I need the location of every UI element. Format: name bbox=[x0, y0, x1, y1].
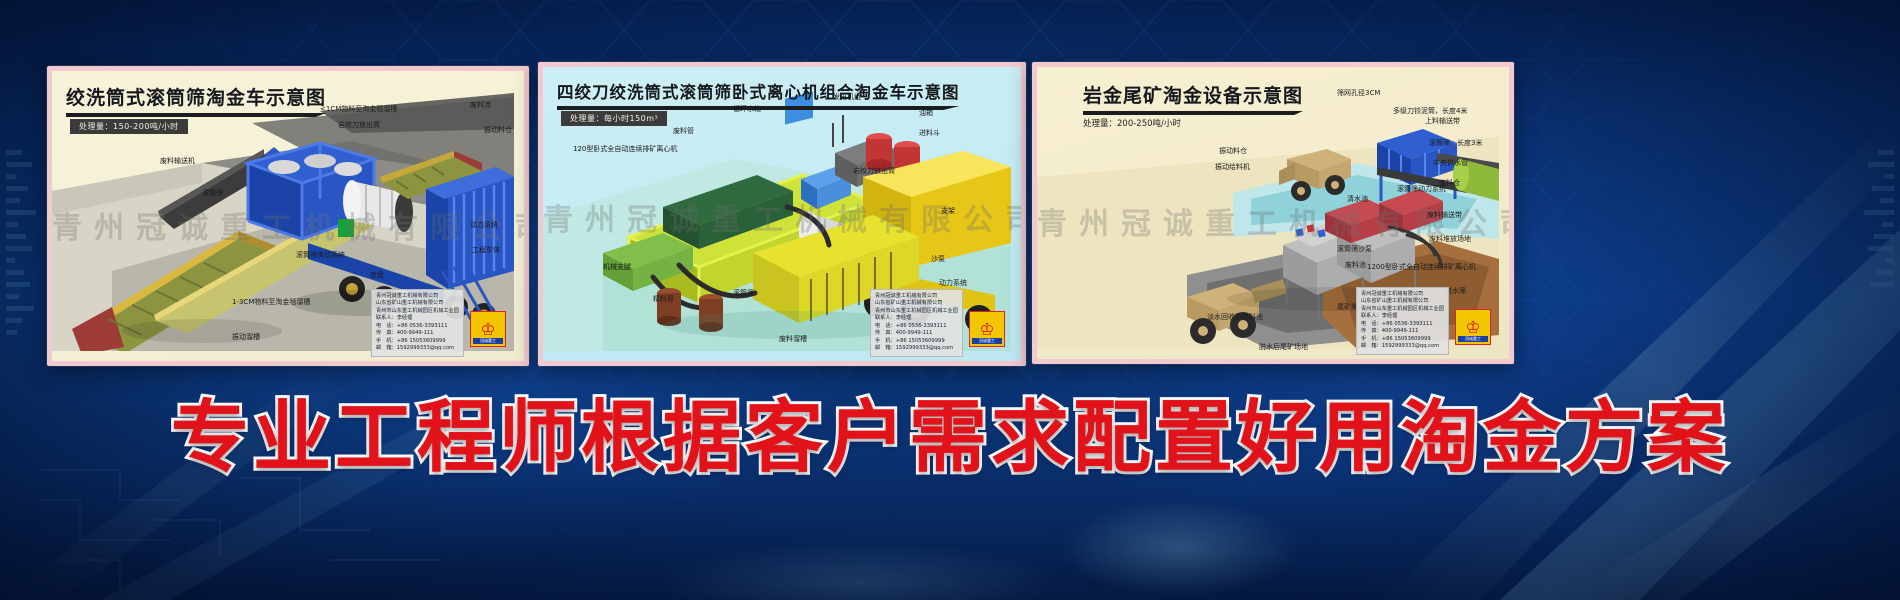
callout-label: 滚筒筛 bbox=[202, 189, 223, 198]
title-underline-1 bbox=[66, 113, 326, 117]
callout-label: 淡水回收及排料池 bbox=[1207, 313, 1263, 322]
callout-label: 脱水后尾矿场地 bbox=[1259, 343, 1308, 352]
panel-3-title: 岩金尾矿淘金设备示意图 bbox=[1083, 81, 1303, 115]
logo-base: 冠诚重工 bbox=[473, 338, 503, 344]
callout-label: 油箱 bbox=[919, 109, 933, 118]
callout-label: 滚筒筛、长度3米 bbox=[1429, 139, 1482, 148]
diagram-panel-1[interactable]: 青州冠诚重工机械有限公司 绞洗筒式滚筒筛淘金车示意图 处理量：150-200吨/… bbox=[47, 66, 529, 366]
contact-person: 联系人：李经理 bbox=[1361, 313, 1444, 321]
contact-email: 邮 箱：1592999333@qq.com bbox=[1361, 343, 1444, 351]
contact-card-3: 青州冠诚重工机械有限公司 山东省矿山重工机械有限公司 青州市山东重工机械园区机械… bbox=[1356, 287, 1449, 355]
callout-label: 1-3CM物料至淘金毯溜槽 bbox=[232, 298, 310, 307]
panel-3-capacity: 处理量：200-250吨/小时 bbox=[1083, 117, 1181, 129]
callout-label: 尾矿堆 bbox=[1337, 303, 1358, 312]
callout-label: 动力系统 bbox=[939, 279, 967, 288]
callout-label: 动力系统 bbox=[470, 221, 498, 230]
callout-label: 废料池 bbox=[1345, 261, 1366, 270]
callout-label: 发电机组 bbox=[833, 93, 861, 102]
callout-label: 滚筒筛动力系统 bbox=[1397, 185, 1446, 194]
callout-label: 振动给料机 bbox=[1215, 163, 1250, 172]
company-name-2: 山东省矿山重工机械有限公司 bbox=[376, 300, 459, 308]
contact-email: 邮 箱：1592999333@qq.com bbox=[875, 345, 958, 353]
callout-label: 底盘 bbox=[370, 271, 384, 280]
contact-email: 邮 箱：1592999333@qq.com bbox=[376, 345, 459, 353]
contact-fax: 传 真：400-9949-111 bbox=[376, 330, 459, 338]
company-name-2: 山东省矿山重工机械有限公司 bbox=[1361, 298, 1444, 306]
diagram-panel-3[interactable]: 青州冠诚重工机械有限公司 岩金尾矿淘金设备示意图 处理量：200-250吨/小时… bbox=[1032, 62, 1514, 364]
crown-icon: ♔ bbox=[979, 321, 994, 338]
panel-1-title: 绞洗筒式滚筒筛淘金车示意图 bbox=[66, 83, 326, 117]
callout-label: 进料斗 bbox=[919, 129, 940, 138]
callout-label: 精料管 bbox=[653, 295, 674, 304]
callout-label: 清水池 bbox=[1347, 195, 1368, 204]
panel-2-capacity: 处理量：每小时150m³ bbox=[561, 111, 667, 126]
callout-label: 岩绞刀放出筒 bbox=[853, 167, 895, 176]
callout-label: 废料堆放场地 bbox=[1429, 235, 1471, 244]
headline-text: 专业工程师根据客户需求配置好用淘金方案 bbox=[171, 399, 1729, 477]
callout-label: 滚筒筛传动系统 bbox=[296, 251, 345, 260]
callout-label: 振动料仓 bbox=[484, 126, 512, 135]
callout-label: 筛网孔径3CM bbox=[1337, 89, 1380, 98]
company-logo-2: ♔ 冠诚重工 bbox=[969, 311, 1005, 347]
company-name-2: 山东省矿山重工机械有限公司 bbox=[875, 300, 958, 308]
callout-label: 沙泵 bbox=[931, 255, 945, 264]
logo-base: 冠诚重工 bbox=[972, 338, 1002, 344]
callout-label: 上料输送带 bbox=[1425, 117, 1460, 126]
callout-label: 工程车体 bbox=[472, 246, 500, 255]
callout-label: 废料管 bbox=[673, 127, 694, 136]
diagram-panel-2[interactable]: 青州冠诚重工机械有限公司 四绞刀绞洗筒式滚筒筛卧式离心机组合淘金车示意图 处理量… bbox=[538, 62, 1026, 366]
callout-label: 振动溜槽 bbox=[232, 333, 260, 342]
callout-label: 支架 bbox=[941, 207, 955, 216]
callout-label: 多级刀铰泥筒，长度4米 bbox=[1393, 107, 1467, 116]
company-logo-1: ♔ 冠诚重工 bbox=[470, 311, 506, 347]
callout-label: 120型卧式全自动连续排矿离心机 bbox=[573, 145, 677, 154]
callout-label: 废料溜槽 bbox=[779, 335, 807, 344]
callout-label: 废料输送机 bbox=[160, 157, 195, 166]
contact-person: 联系人：李经理 bbox=[875, 315, 958, 323]
company-logo-3: ♔ 冠诚重工 bbox=[1455, 309, 1491, 345]
contact-card-2: 青州冠诚重工机械有限公司 山东省矿山重工机械有限公司 青州市山东重工机械园区机械… bbox=[870, 289, 963, 357]
contact-card-1: 青州冠诚重工机械有限公司 山东省矿山重工机械有限公司 青州市山东重工机械园区机械… bbox=[371, 289, 464, 357]
crown-icon: ♔ bbox=[480, 321, 495, 338]
logo-base: 冠诚重工 bbox=[1458, 336, 1488, 342]
contact-fax: 传 真：400-9949-111 bbox=[1361, 328, 1444, 336]
callout-label: 1200型卧式全自动连续排矿离心机 bbox=[1367, 263, 1476, 272]
callout-label: 滚筒筛沙泵 bbox=[1337, 245, 1372, 254]
callout-label: <1CM物料至淘金毯溜槽 bbox=[320, 105, 397, 114]
callout-label: 废料流 bbox=[470, 101, 491, 110]
panel-1-capacity: 处理量：150-200吨/小时 bbox=[70, 119, 188, 134]
callout-label: 废料输送带 bbox=[1427, 211, 1462, 220]
contact-fax: 传 真：400-9949-111 bbox=[875, 330, 958, 338]
banner-root: 青州冠诚重工机械有限公司 绞洗筒式滚筒筛淘金车示意图 处理量：150-200吨/… bbox=[0, 0, 1900, 600]
callout-label: 振动料仓 bbox=[1219, 147, 1247, 156]
headline-banner: 专业工程师根据客户需求配置好用淘金方案 专业工程师根据客户需求配置好用淘金方案 bbox=[0, 378, 1900, 498]
callout-label: 中央供水管 bbox=[1433, 159, 1468, 168]
title-underline-3 bbox=[1083, 111, 1303, 115]
callout-label: 机械支腿 bbox=[603, 263, 631, 272]
callout-label: 循环水箱 bbox=[733, 105, 761, 114]
callout-label: 滚筒筛 bbox=[733, 289, 754, 298]
contact-person: 联系人：李经理 bbox=[376, 315, 459, 323]
crown-icon: ♔ bbox=[1465, 319, 1480, 336]
callout-label: 岩绞刀放出筒 bbox=[338, 121, 380, 130]
